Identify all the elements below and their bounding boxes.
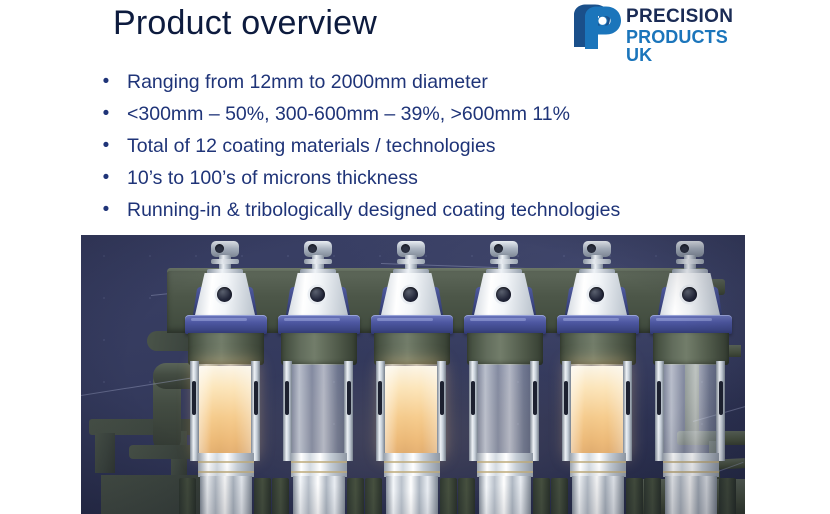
- logo-line-precision: PRECISION: [626, 7, 748, 26]
- rod-ring: [198, 461, 254, 463]
- list-item: • Total of 12 coating materials / techno…: [100, 130, 760, 162]
- unit-port: [403, 287, 418, 302]
- rod-ring: [570, 461, 626, 463]
- rib-slot-left: [564, 381, 568, 415]
- list-item: • Running-in & tribologically designed c…: [100, 194, 760, 226]
- page-title: Product overview: [113, 4, 377, 43]
- rib-slot-right: [533, 381, 537, 415]
- rod-ring: [570, 471, 626, 473]
- bullet-list: • Ranging from 12mm to 2000mm diameter •…: [100, 66, 760, 226]
- valve-bore: [680, 244, 689, 253]
- bullet-marker-icon: •: [100, 98, 112, 130]
- rib-slot-left: [471, 381, 475, 415]
- cylinder-unit: [549, 235, 645, 514]
- foot-bracket: [254, 478, 271, 514]
- valve-flange: [676, 259, 704, 264]
- rod-ring: [291, 461, 347, 463]
- rod-ring: [477, 461, 533, 463]
- rod-band: [198, 453, 254, 477]
- lower-rod: [293, 476, 345, 514]
- rod-ring: [291, 471, 347, 473]
- rod-band: [570, 453, 626, 477]
- cylinder-unit: [456, 235, 552, 514]
- list-item-label: 10’s to 100’s of microns thickness: [127, 162, 418, 194]
- foot-bracket: [626, 478, 643, 514]
- cylinder-unit: [270, 235, 366, 514]
- bullet-marker-icon: •: [100, 194, 112, 226]
- cylinder-unit: [363, 235, 459, 514]
- cylinder-unit: [642, 235, 738, 514]
- glow-highlight: [571, 366, 625, 454]
- rib-slot-left: [285, 381, 289, 415]
- background-steelwork: [95, 433, 115, 473]
- foot-bracket: [179, 478, 196, 514]
- lower-rod: [386, 476, 438, 514]
- glow-highlight: [385, 366, 439, 454]
- collar-highlight: [284, 318, 340, 321]
- list-item-label: Running-in & tribologically designed coa…: [127, 194, 620, 226]
- glass-cylinder: [476, 364, 534, 456]
- valve-bore: [587, 244, 596, 253]
- valve-flange: [397, 259, 425, 264]
- valve-flange: [583, 259, 611, 264]
- foot-bracket: [644, 478, 661, 514]
- list-item-label: <300mm – 50%, 300-600mm – 39%, >600mm 11…: [127, 98, 570, 130]
- valve-bore: [308, 244, 317, 253]
- rib-slot-left: [192, 381, 196, 415]
- collar-highlight: [656, 318, 712, 321]
- brand-logo: PRECISION PRODUCTS UK: [568, 2, 748, 52]
- foot-bracket: [347, 478, 364, 514]
- lower-rod: [572, 476, 624, 514]
- machinery-photo: [81, 235, 745, 514]
- rod-ring: [384, 471, 440, 473]
- valve-flange: [304, 259, 332, 264]
- bullet-marker-icon: •: [100, 66, 112, 98]
- rib-slot-right: [626, 381, 630, 415]
- unit-port: [310, 287, 325, 302]
- rib-slot-left: [657, 381, 661, 415]
- lower-rod: [665, 476, 717, 514]
- rib-slot-right: [347, 381, 351, 415]
- lower-rod: [479, 476, 531, 514]
- unit-port: [682, 287, 697, 302]
- collar-highlight: [470, 318, 526, 321]
- foot-bracket: [272, 478, 289, 514]
- rod-ring: [663, 471, 719, 473]
- valve-bore: [401, 244, 410, 253]
- foot-bracket: [719, 478, 736, 514]
- rod-band: [291, 453, 347, 477]
- glass-cylinder: [290, 364, 348, 456]
- rod-ring: [477, 471, 533, 473]
- rib-slot-right: [719, 381, 723, 415]
- unit-port: [589, 287, 604, 302]
- foot-bracket: [551, 478, 568, 514]
- bullet-marker-icon: •: [100, 130, 112, 162]
- collar-highlight: [377, 318, 433, 321]
- foot-bracket: [458, 478, 475, 514]
- bullet-marker-icon: •: [100, 162, 112, 194]
- precision-p-monogram-icon: [568, 3, 630, 51]
- collar-highlight: [563, 318, 619, 321]
- list-item: • <300mm – 50%, 300-600mm – 39%, >600mm …: [100, 98, 760, 130]
- collar-highlight: [191, 318, 247, 321]
- rod-ring: [384, 461, 440, 463]
- foot-bracket: [365, 478, 382, 514]
- foot-bracket: [440, 478, 457, 514]
- valve-flange: [211, 259, 239, 264]
- logo-wordmark: PRECISION PRODUCTS UK: [626, 7, 748, 64]
- rod-band: [384, 453, 440, 477]
- list-item: • 10’s to 100’s of microns thickness: [100, 162, 760, 194]
- foot-bracket: [533, 478, 550, 514]
- rib-slot-left: [378, 381, 382, 415]
- cylinder-unit: [177, 235, 273, 514]
- rib-slot-right: [440, 381, 444, 415]
- list-item-label: Ranging from 12mm to 2000mm diameter: [127, 66, 488, 98]
- rod-band: [477, 453, 533, 477]
- rib-slot-right: [254, 381, 258, 415]
- glow-highlight: [199, 366, 253, 454]
- valve-flange: [490, 259, 518, 264]
- rod-ring: [198, 471, 254, 473]
- logo-line-products-uk: PRODUCTS UK: [626, 28, 748, 64]
- rod-ring: [663, 461, 719, 463]
- unit-port: [496, 287, 511, 302]
- valve-bore: [494, 244, 503, 253]
- list-item-label: Total of 12 coating materials / technolo…: [127, 130, 496, 162]
- lower-rod: [200, 476, 252, 514]
- slide-root: Product overview PRECISION PRODUCTS UK •…: [0, 0, 830, 514]
- list-item: • Ranging from 12mm to 2000mm diameter: [100, 66, 760, 98]
- valve-bore: [215, 244, 224, 253]
- unit-port: [217, 287, 232, 302]
- glass-cylinder: [662, 364, 720, 456]
- rod-band: [663, 453, 719, 477]
